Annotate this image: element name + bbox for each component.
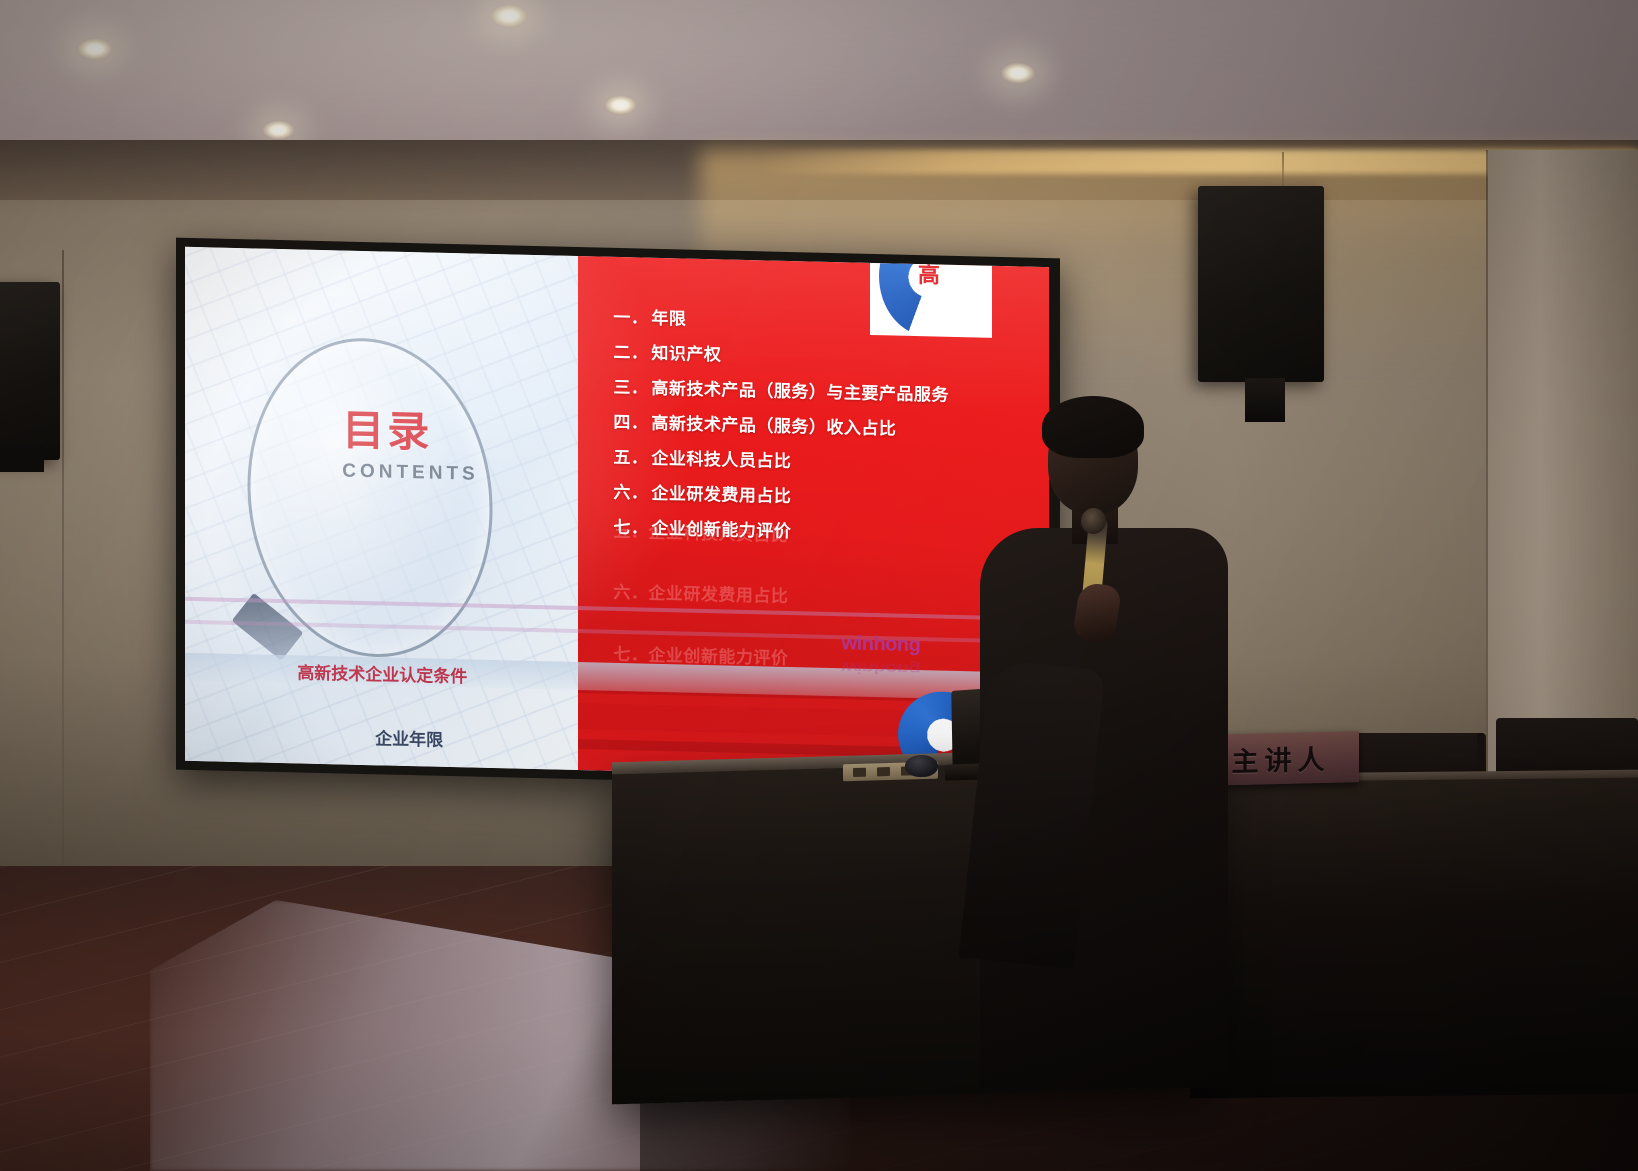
- wall-seam: [62, 250, 64, 870]
- toc-item-label: 年限: [651, 309, 686, 330]
- toc-item-label: 企业科技人员占比: [651, 449, 791, 472]
- projection-screen: 目录 CONTENTS 五．企业科技人员占比 六．企业研发费用占比 七．企业创新…: [176, 238, 1060, 791]
- emblem-core-glyph: 高: [901, 256, 956, 311]
- wall-speaker-left: [0, 282, 60, 460]
- ceiling-downlight: [604, 95, 637, 115]
- projection-surface: 目录 CONTENTS 五．企业科技人员占比 六．企业研发费用占比 七．企业创新…: [185, 247, 1049, 781]
- toc-item-label: 高新技术产品（服务）收入占比: [651, 414, 896, 440]
- speaker-bracket-left: [0, 444, 44, 472]
- toc-item-label: 知识产权: [651, 344, 721, 366]
- slide-ghost-text: 六．企业研发费用占比: [613, 578, 788, 607]
- slide-remnant-heading: 高新技术企业认定条件: [297, 658, 467, 687]
- speaker-nameplate-text: 主讲人: [1232, 738, 1331, 779]
- toc-item-number: 七．: [613, 518, 648, 539]
- toc-item-number: 三．: [613, 378, 648, 399]
- ceiling-downlight: [77, 38, 113, 60]
- power-socket[interactable]: [853, 768, 866, 777]
- wall-speaker-right: [1198, 186, 1324, 382]
- presenter-hair: [1042, 396, 1144, 458]
- toc-item-number: 六．: [613, 483, 648, 504]
- slide-remnant-subheading: 企业年限: [375, 724, 443, 751]
- ceiling-shading: [0, 0, 1638, 150]
- presenter: [968, 396, 1230, 1096]
- ceiling-downlight: [1000, 62, 1036, 84]
- slide-left-panel: 目录 CONTENTS: [185, 247, 578, 770]
- toc-item-number: 五．: [613, 448, 648, 469]
- toc-item-number: 一．: [613, 308, 648, 329]
- toc-item-label: 高新技术产品（服务）与主要产品服务: [651, 379, 949, 406]
- ceiling-downlight: [490, 4, 528, 28]
- slide-title-cn: 目录: [342, 410, 562, 457]
- conference-room-scene: 目录 CONTENTS 五．企业科技人员占比 六．企业研发费用占比 七．企业创新…: [0, 0, 1638, 1171]
- computer-mouse[interactable]: [905, 755, 938, 777]
- desk-right: [1190, 778, 1638, 1099]
- winhong-logo-reflection: winhong: [842, 658, 921, 677]
- toc-item-label: 企业研发费用占比: [651, 484, 791, 507]
- toc-item-number: 四．: [613, 413, 648, 434]
- toc-item-number: 二．: [613, 343, 648, 364]
- ceiling-downlight: [262, 120, 295, 140]
- toc-item-label: 企业创新能力评价: [651, 519, 791, 542]
- winhong-logo: winhong: [842, 632, 921, 657]
- speaker-bracket-right: [1245, 378, 1285, 422]
- toc-item: 二．知识产权: [613, 338, 1046, 373]
- power-socket[interactable]: [877, 767, 890, 776]
- slide-title-block: 目录 CONTENTS: [342, 410, 562, 488]
